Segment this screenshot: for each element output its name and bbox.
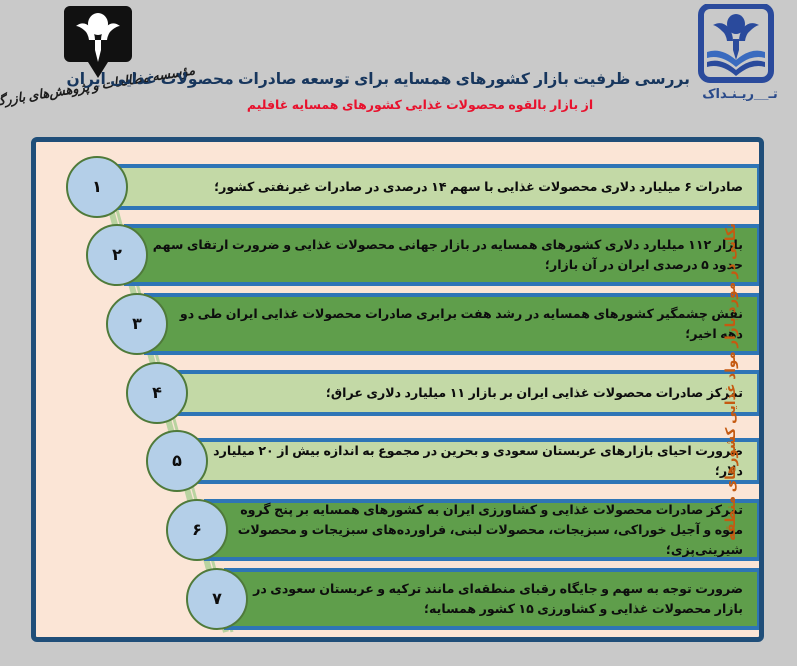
item-bar: ضرورت احیای بازارهای عربستان سعودی و بحر…: [184, 438, 759, 484]
trindoc-emblem-blue-icon: [697, 4, 775, 86]
item-number: ۷: [212, 589, 222, 609]
item-bar: بازار ۱۱۲ میلیارد دلاری کشورهای همسایه د…: [124, 224, 759, 286]
item-number-badge: ۷: [186, 568, 248, 630]
item-text: تمرکز صادرات محصولات غذایی و کشاورزی ایر…: [228, 500, 743, 560]
item-number: ۳: [132, 314, 142, 334]
page-title: بررسی ظرفیت بازار کشورهای همسایه برای تو…: [150, 70, 690, 90]
item-bar: صادرات ۶ میلیارد دلاری محصولات غذایی با …: [104, 164, 759, 210]
item-number-badge: ۶: [166, 499, 228, 561]
list-item[interactable]: بازار ۱۱۲ میلیارد دلاری کشورهای همسایه د…: [36, 224, 764, 286]
list-item[interactable]: ضرورت توجه به سهم و جایگاه رقبای منطقه‌ا…: [36, 568, 764, 630]
item-text: ضرورت توجه به سهم و جایگاه رقبای منطقه‌ا…: [248, 579, 743, 619]
item-bar: تمرکز صادرات محصولات غذایی و کشاورزی ایر…: [204, 499, 759, 561]
item-bar: تمرکز صادرات محصولات غذایی ایران بر بازا…: [164, 370, 759, 416]
title-block: بررسی ظرفیت بازار کشورهای همسایه برای تو…: [150, 70, 690, 114]
list-item[interactable]: تمرکز صادرات محصولات غذایی و کشاورزی ایر…: [36, 499, 764, 561]
infographic-panel: نکاتی در مورد بازار مواد غذایی کشورهای م…: [31, 137, 764, 642]
item-text: نقش چشمگیر کشورهای همسایه در رشد هفت برا…: [168, 304, 743, 344]
item-number-badge: ۲: [86, 224, 148, 286]
item-number-badge: ۱: [66, 156, 128, 218]
list-item[interactable]: صادرات ۶ میلیارد دلاری محصولات غذایی با …: [36, 164, 764, 210]
item-number-badge: ۴: [126, 362, 188, 424]
item-bar: ضرورت توجه به سهم و جایگاه رقبای منطقه‌ا…: [224, 568, 759, 630]
item-number: ۴: [152, 383, 162, 403]
item-number: ۵: [172, 451, 182, 471]
page-subtitle: از بازار بالقوه محصولات غذایی کشورهای هم…: [150, 96, 690, 114]
trindoc-wordmark: تـ__ریـنـداک: [697, 86, 783, 102]
item-number-badge: ۵: [146, 430, 208, 492]
item-text: ضرورت احیای بازارهای عربستان سعودی و بحر…: [208, 441, 743, 481]
item-bar: نقش چشمگیر کشورهای همسایه در رشد هفت برا…: [144, 293, 759, 355]
item-number: ۲: [112, 245, 122, 265]
list-item[interactable]: تمرکز صادرات محصولات غذایی ایران بر بازا…: [36, 370, 764, 416]
item-text: بازار ۱۱۲ میلیارد دلاری کشورهای همسایه د…: [148, 235, 743, 275]
item-number-badge: ۳: [106, 293, 168, 355]
item-number: ۶: [192, 520, 202, 540]
item-text: صادرات ۶ میلیارد دلاری محصولات غذایی با …: [128, 177, 743, 197]
list-item[interactable]: نقش چشمگیر کشورهای همسایه در رشد هفت برا…: [36, 293, 764, 355]
item-number: ۱: [92, 177, 102, 197]
list-item[interactable]: ضرورت احیای بازارهای عربستان سعودی و بحر…: [36, 438, 764, 484]
page-header: مؤسسه مطالعات و پژوهش‌های بازرگانی بررسی…: [0, 0, 797, 136]
items-list: صادرات ۶ میلیارد دلاری محصولات غذایی با …: [36, 142, 764, 642]
item-text: تمرکز صادرات محصولات غذایی ایران بر بازا…: [188, 383, 743, 403]
